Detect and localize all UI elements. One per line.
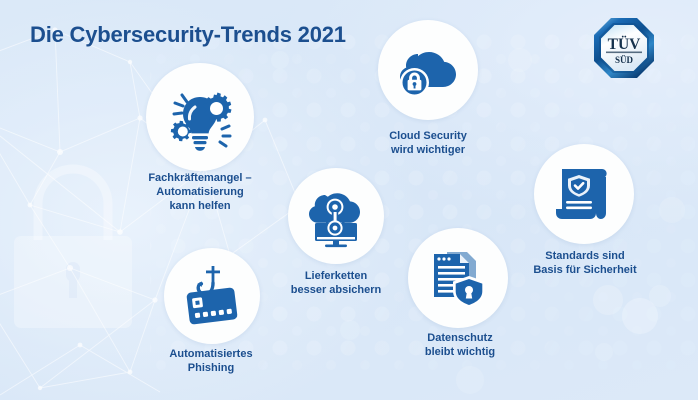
- trend-caption-cloud-security: Cloud Security wird wichtiger: [358, 130, 498, 158]
- page-title: Die Cybersecurity-Trends 2021: [30, 22, 346, 48]
- trend-caption-standards: Standards sind Basis für Sicherheit: [508, 250, 662, 278]
- certificate-shield-icon: [534, 144, 634, 244]
- tuv-sud-logo: TÜV SÜD: [592, 16, 656, 80]
- infographic-canvas: Die Cybersecurity-Trends 2021: [0, 0, 698, 400]
- logo-text-tuv: TÜV: [608, 36, 642, 53]
- trend-caption-datenschutz: Datenschutz bleibt wichtig: [390, 332, 530, 360]
- credit-card-hook-icon: [164, 248, 260, 344]
- trend-caption-phishing: Automatisiertes Phishing: [140, 348, 282, 376]
- lightbulb-gears-icon: [146, 63, 254, 171]
- documents-shield-icon: [408, 228, 508, 328]
- trend-caption-fachkraeftemangel: Fachkräftemangel – Automatisierung kann …: [120, 172, 280, 213]
- logo-text-sud: SÜD: [615, 55, 634, 65]
- cloud-chain-monitor-icon: [288, 168, 384, 264]
- trend-caption-lieferketten: Lieferketten besser absichern: [268, 270, 404, 298]
- cloud-lock-icon: [378, 20, 478, 120]
